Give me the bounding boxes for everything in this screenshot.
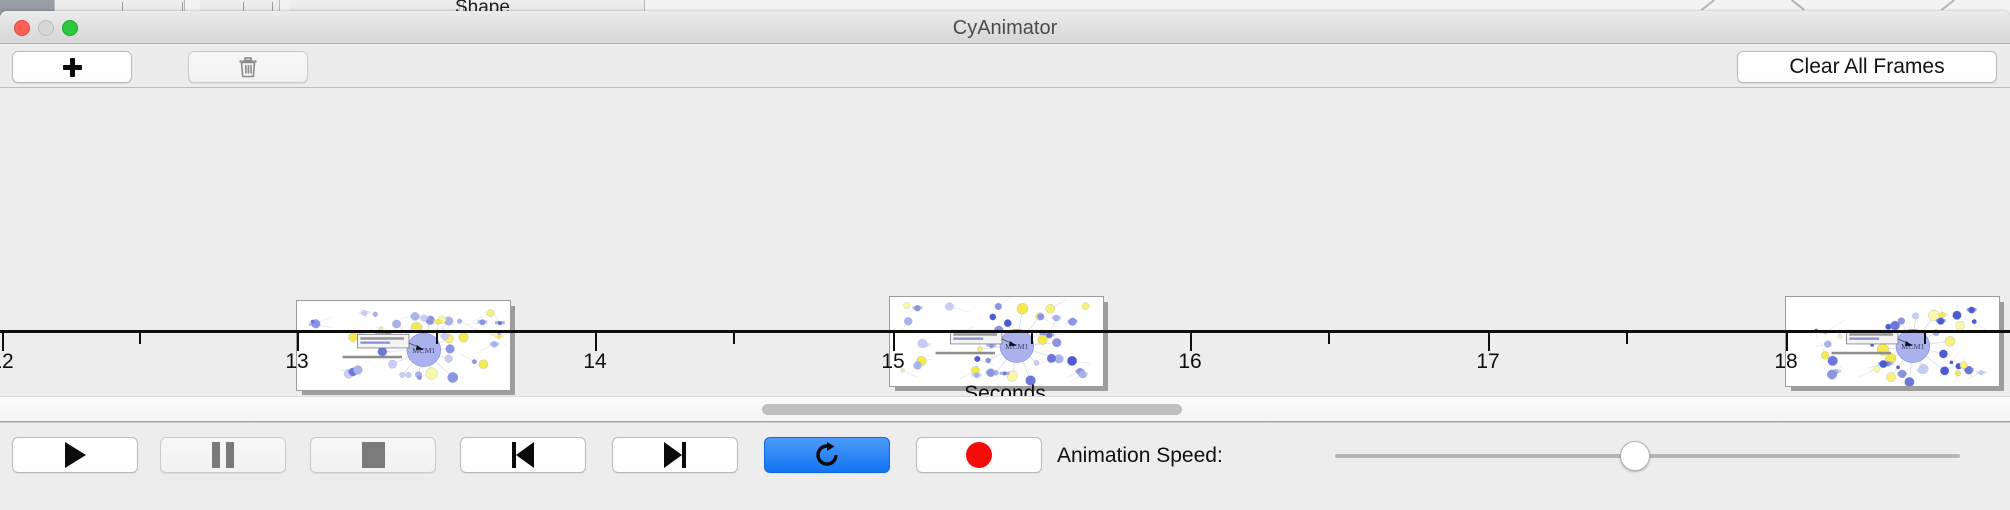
skip-backward-icon bbox=[512, 442, 534, 468]
axis-tick bbox=[1488, 333, 1490, 351]
bg-decoration-3 bbox=[1941, 0, 1955, 11]
axis-tick bbox=[1626, 333, 1628, 344]
axis-tick bbox=[139, 333, 141, 344]
axis-tick-label: 17 bbox=[1476, 350, 1499, 374]
record-button[interactable] bbox=[916, 437, 1042, 473]
cyanimator-window: CyAnimator Clear All Frames MCM1 bbox=[0, 11, 2010, 510]
pause-button[interactable] bbox=[160, 437, 286, 473]
play-button[interactable] bbox=[12, 437, 138, 473]
axis-tick bbox=[733, 333, 735, 344]
clear-all-frames-label: Clear All Frames bbox=[1789, 55, 1944, 79]
delete-frame-button[interactable] bbox=[188, 51, 308, 83]
axis-tick bbox=[1190, 333, 1192, 351]
axis-tick bbox=[297, 333, 299, 351]
animation-speed-slider-thumb[interactable] bbox=[1620, 441, 1650, 471]
axis-tick bbox=[436, 333, 438, 344]
window-title: CyAnimator bbox=[0, 17, 2010, 40]
axis-tick bbox=[595, 333, 597, 351]
axis-tick-label: 14 bbox=[583, 350, 606, 374]
timeline-scrollbar[interactable] bbox=[0, 396, 2010, 422]
play-icon bbox=[65, 442, 86, 468]
record-icon bbox=[966, 442, 992, 468]
loop-icon bbox=[814, 442, 840, 468]
axis-tick bbox=[893, 333, 895, 351]
plus-icon bbox=[63, 58, 82, 77]
timeline-panel[interactable]: MCM1 MCM1 MCM1 12131415161718 Seconds bbox=[0, 88, 2010, 396]
frames-toolbar: Clear All Frames bbox=[0, 44, 2010, 88]
playback-toolbar: Animation Speed: bbox=[0, 422, 2010, 486]
axis-tick bbox=[1031, 333, 1033, 344]
axis-tick bbox=[1924, 333, 1926, 344]
clear-all-frames-button[interactable]: Clear All Frames bbox=[1737, 51, 1997, 83]
axis-tick-label: 12 bbox=[0, 350, 14, 374]
axis-tick-label: 13 bbox=[285, 350, 308, 374]
axis-line bbox=[0, 330, 2010, 333]
timeline-scrollbar-thumb[interactable] bbox=[762, 404, 1182, 415]
animation-speed-label: Animation Speed: bbox=[1057, 444, 1223, 468]
add-frame-button[interactable] bbox=[12, 51, 132, 83]
pause-icon bbox=[212, 442, 234, 468]
axis-tick bbox=[1328, 333, 1330, 344]
stop-icon bbox=[362, 442, 385, 468]
skip-forward-button[interactable] bbox=[612, 437, 738, 473]
animation-speed-slider[interactable] bbox=[1335, 454, 1960, 458]
bg-decoration-1 bbox=[1701, 0, 1715, 11]
bg-decoration-2 bbox=[1791, 0, 1805, 11]
axis-tick bbox=[1786, 333, 1788, 351]
trash-icon bbox=[238, 56, 258, 78]
frames-strip[interactable]: MCM1 MCM1 MCM1 bbox=[0, 88, 2010, 330]
stop-button[interactable] bbox=[310, 437, 436, 473]
loop-button[interactable] bbox=[764, 437, 890, 473]
axis-tick-label: 16 bbox=[1178, 350, 1201, 374]
window-titlebar: CyAnimator bbox=[0, 11, 2010, 44]
axis-title: Seconds bbox=[0, 382, 2010, 396]
axis-tick bbox=[2, 333, 4, 351]
skip-forward-icon bbox=[664, 442, 686, 468]
axis-tick-label: 18 bbox=[1774, 350, 1797, 374]
axis-tick-label: 15 bbox=[881, 350, 904, 374]
skip-backward-button[interactable] bbox=[460, 437, 586, 473]
timeline-axis: 12131415161718 Seconds bbox=[0, 330, 2010, 396]
